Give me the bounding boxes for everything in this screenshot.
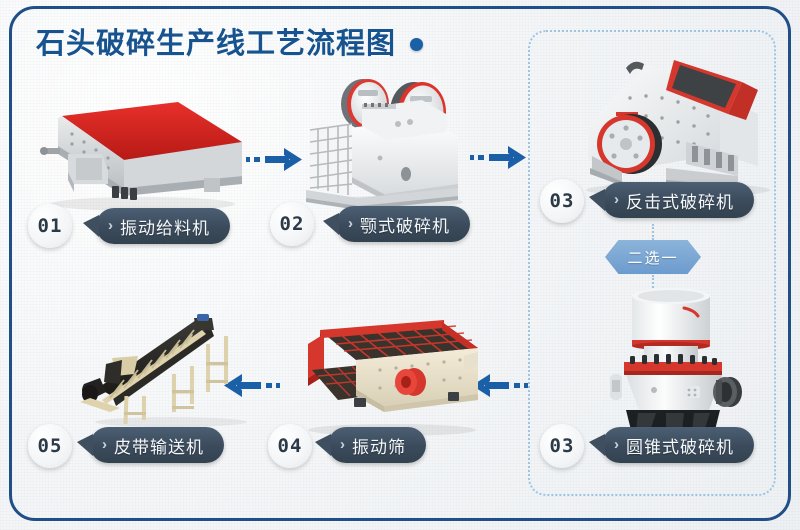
chevron-right-icon: › bbox=[348, 216, 353, 231]
arrow-jaw-to-impact bbox=[470, 144, 528, 177]
step-number-01: 01 bbox=[28, 204, 72, 248]
step-label-text-03-impact: 反击式破碎机 bbox=[626, 188, 734, 213]
choose-one-of-two-label: 二选一 bbox=[627, 247, 678, 268]
title-dot-icon bbox=[410, 38, 423, 51]
step-label-text-05: 皮带输送机 bbox=[114, 433, 204, 458]
step-label-04[interactable]: › 振动筛 bbox=[328, 427, 426, 463]
step-label-02[interactable]: › 颚式破碎机 bbox=[336, 206, 470, 242]
step-number-04: 04 bbox=[268, 424, 312, 468]
equipment-impact-crusher bbox=[570, 38, 786, 200]
step-label-05[interactable]: › 皮带输送机 bbox=[90, 427, 224, 463]
arrow-feeder-to-jaw bbox=[246, 146, 304, 179]
step-label-03-cone[interactable]: › 圆锥式破碎机 bbox=[602, 427, 754, 463]
page-title-group: 石头破碎生产线工艺流程图 bbox=[36, 20, 423, 62]
step-number-05: 05 bbox=[28, 424, 72, 468]
group-connector-line-top bbox=[652, 224, 654, 240]
step-number-03-cone: 03 bbox=[540, 424, 584, 468]
equipment-belt-conveyor bbox=[76, 300, 266, 428]
chevron-right-icon: › bbox=[102, 437, 107, 452]
chevron-right-icon: › bbox=[340, 437, 345, 452]
step-label-text-02: 颚式破碎机 bbox=[360, 212, 450, 237]
equipment-cone-crusher bbox=[588, 282, 758, 440]
flowchart-canvas: 石头破碎生产线工艺流程图 bbox=[0, 0, 800, 530]
step-number-03-impact: 03 bbox=[540, 179, 584, 223]
equipment-vibrating-screen bbox=[292, 312, 492, 438]
chevron-right-icon: › bbox=[614, 437, 619, 452]
equipment-vibrating-feeder bbox=[28, 88, 248, 213]
step-label-01[interactable]: › 振动给料机 bbox=[96, 208, 230, 244]
equipment-jaw-crusher bbox=[306, 62, 476, 210]
step-label-text-04: 振动筛 bbox=[352, 433, 406, 458]
step-number-02: 02 bbox=[270, 202, 314, 246]
choose-one-of-two-badge: 二选一 bbox=[605, 240, 701, 274]
chevron-right-icon: › bbox=[108, 218, 113, 233]
page-title: 石头破碎生产线工艺流程图 bbox=[36, 20, 396, 62]
chevron-right-icon: › bbox=[614, 192, 619, 207]
step-label-text-01: 振动给料机 bbox=[120, 214, 210, 239]
step-label-03-impact[interactable]: › 反击式破碎机 bbox=[602, 182, 754, 218]
step-label-text-03-cone: 圆锥式破碎机 bbox=[626, 433, 734, 458]
